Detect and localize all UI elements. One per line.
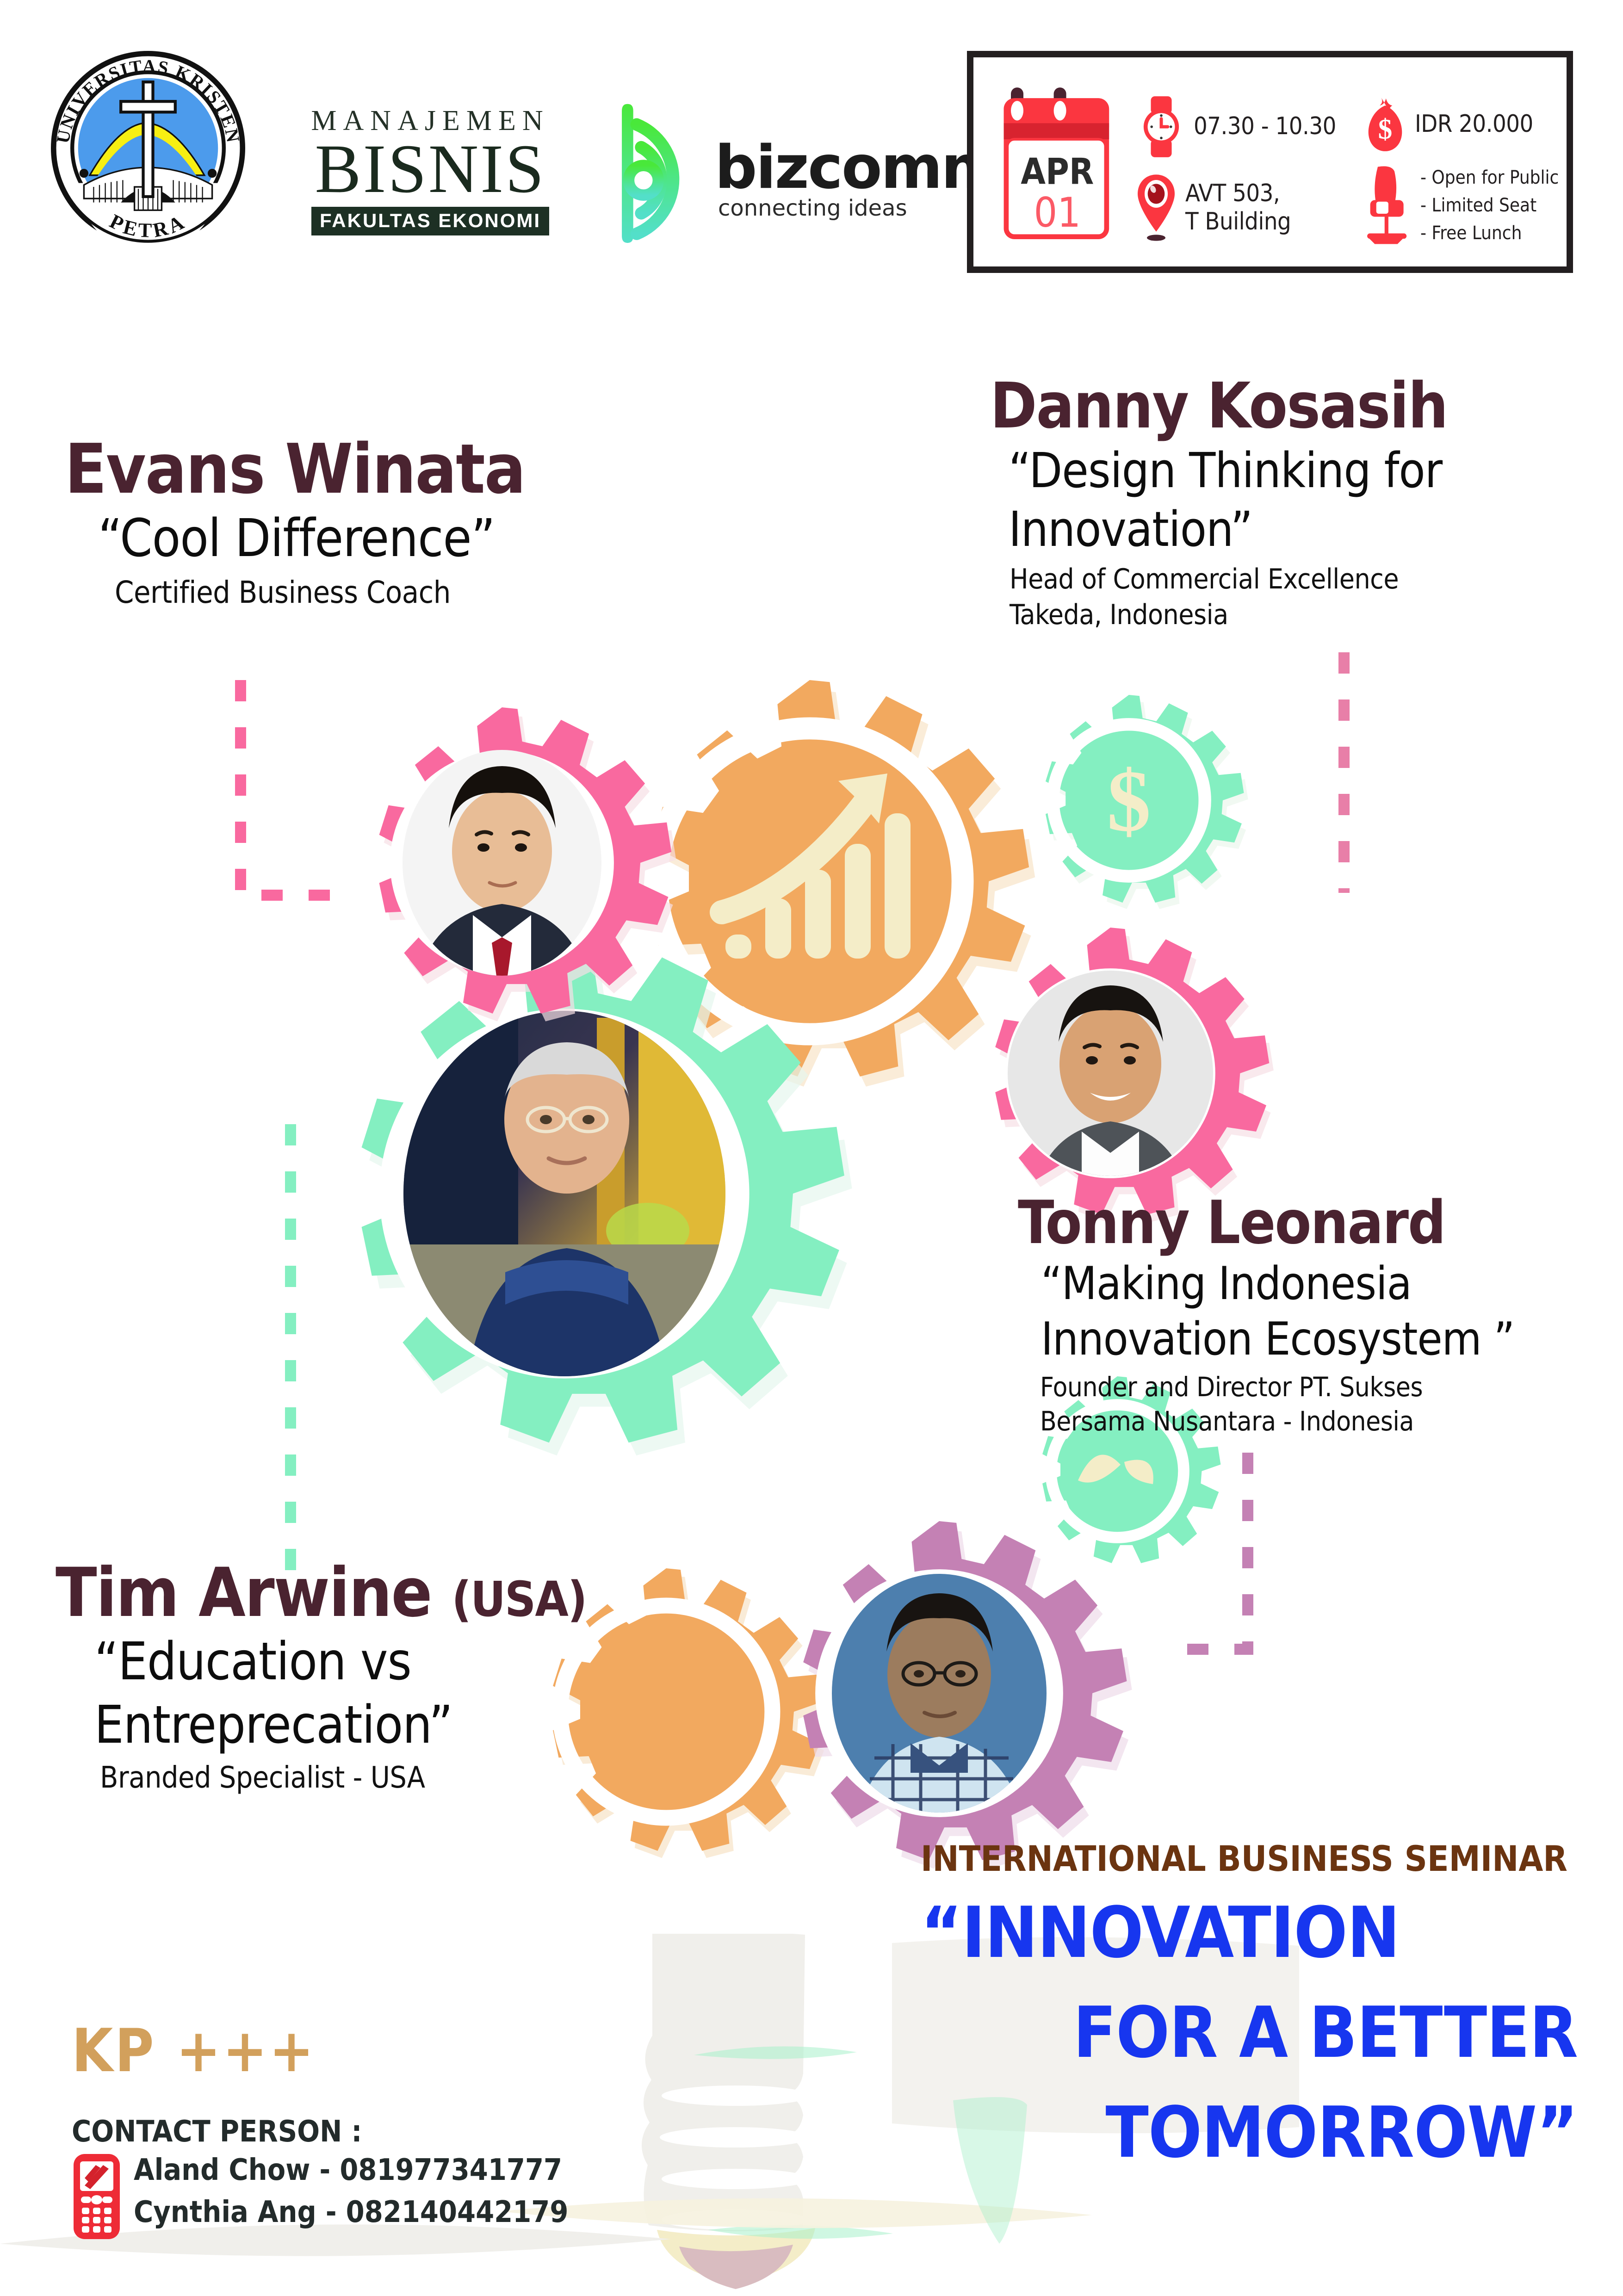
contact-person-heading: CONTACT PERSON : [72, 2117, 627, 2147]
dashed-connector-left-pink [241, 680, 352, 895]
event-place-text: AVT 503, T Building [1185, 179, 1291, 236]
speaker-role: Certified Business Coach [115, 573, 525, 612]
calendar-day-label: 01 [1034, 189, 1081, 236]
manajemen-bisnis-logo: MANAJEMEN BISNIS FAKULTAS EKONOMI [319, 106, 541, 245]
bisnis-logo-line3: FAKULTAS EKONOMI [311, 207, 549, 235]
speaker-tonny-leonard: Tonny Leonard “Making Indonesia Innovati… [1018, 1194, 1587, 1439]
kp-plus-label: KP +++ [72, 2022, 627, 2081]
bisnis-logo-line2: BISNIS [315, 136, 545, 202]
speaker-topic: “Design Thinking for Innovation” [1009, 441, 1508, 559]
money-bag-icon: $ [1364, 94, 1406, 155]
speaker-name-main: Tim Arwine [56, 1553, 452, 1632]
event-place-row: AVT 503, T Building [1135, 173, 1291, 242]
event-price-text: IDR 20.000 [1415, 110, 1533, 138]
seminar-title-line-2: FOR A BETTER [921, 1983, 1578, 2083]
map-pin-icon [1135, 173, 1177, 242]
speaker-tim-arwine: Tim Arwine (USA) “Education vs Entreprec… [56, 1559, 587, 1797]
event-features-text: - Open for Public - Limited Seat - Free … [1420, 164, 1559, 247]
seminar-kicker: INTERNATIONAL BUSINESS SEMINAR [921, 1841, 1578, 1876]
bizcomm-b-mark-icon [611, 97, 726, 245]
seminar-title-block: INTERNATIONAL BUSINESS SEMINAR “INNOVATI… [921, 1841, 1578, 2182]
gear-orange-chart [650, 680, 1035, 1087]
bizcomm-logo: bizcomm connecting ideas [611, 97, 944, 245]
speaker-role: Branded Specialist - USA [100, 1759, 587, 1797]
event-price-row: $ IDR 20.000 [1364, 94, 1533, 155]
event-features-row: - Open for Public - Limited Seat - Free … [1359, 164, 1559, 247]
speaker-topic: “Making Indonesia Innovation Ecosystem ” [1041, 1256, 1587, 1367]
speaker-name: Evans Winata [65, 435, 525, 503]
event-info-box: APR 01 07.30 - 10.30 [967, 51, 1573, 273]
lightbulb-tip [679, 2245, 793, 2289]
calendar-month-label: APR [1021, 151, 1094, 192]
speaker-name: Danny Kosasih [990, 375, 1508, 438]
seminar-title-line-3: TOMORROW” [921, 2083, 1578, 2183]
dollar-sign-icon: $ [1107, 753, 1151, 850]
speaker-name: Tonny Leonard [1018, 1194, 1587, 1253]
contact-block: KP +++ CONTACT PERSON : [72, 2022, 627, 2241]
office-chair-icon [1359, 164, 1413, 247]
speaker-role: Head of Commercial Excellence Takeda, In… [1010, 562, 1508, 633]
contact-person-list: Aland Chow - 081977341777 Cynthia Ang - … [134, 2149, 568, 2234]
gear-orange-plain [553, 1568, 827, 1858]
speaker-topic: “Cool Difference” [98, 507, 525, 570]
event-time-row: 07.30 - 10.30 [1137, 94, 1336, 159]
speaker-danny-kosasih: Danny Kosasih “Design Thinking for Innov… [990, 375, 1508, 632]
watch-icon [1137, 94, 1185, 159]
bizcomm-tagline: connecting ideas [718, 195, 907, 221]
speaker-name-country: (USA) [452, 1571, 586, 1628]
mobile-phone-icon [72, 2152, 122, 2241]
speaker-name: Tim Arwine (USA) [56, 1559, 587, 1627]
calendar-icon: APR 01 [998, 83, 1123, 245]
speaker-evans-winata: Evans Winata “Cool Difference” Certified… [65, 435, 525, 612]
speaker-role: Founder and Director PT. Sukses Bersama … [1040, 1370, 1587, 1438]
seminar-title-line-1: “INNOVATION [921, 1883, 1578, 1983]
svg-text:$: $ [1378, 114, 1393, 145]
speaker-topic: “Education vs Entreprecation” [94, 1630, 511, 1757]
universitas-kristen-petra-logo: UNIVERSITAS KRISTEN PETRA [51, 51, 245, 245]
event-time-text: 07.30 - 10.30 [1194, 112, 1336, 141]
bizcomm-wordmark: bizcomm [715, 133, 1002, 202]
